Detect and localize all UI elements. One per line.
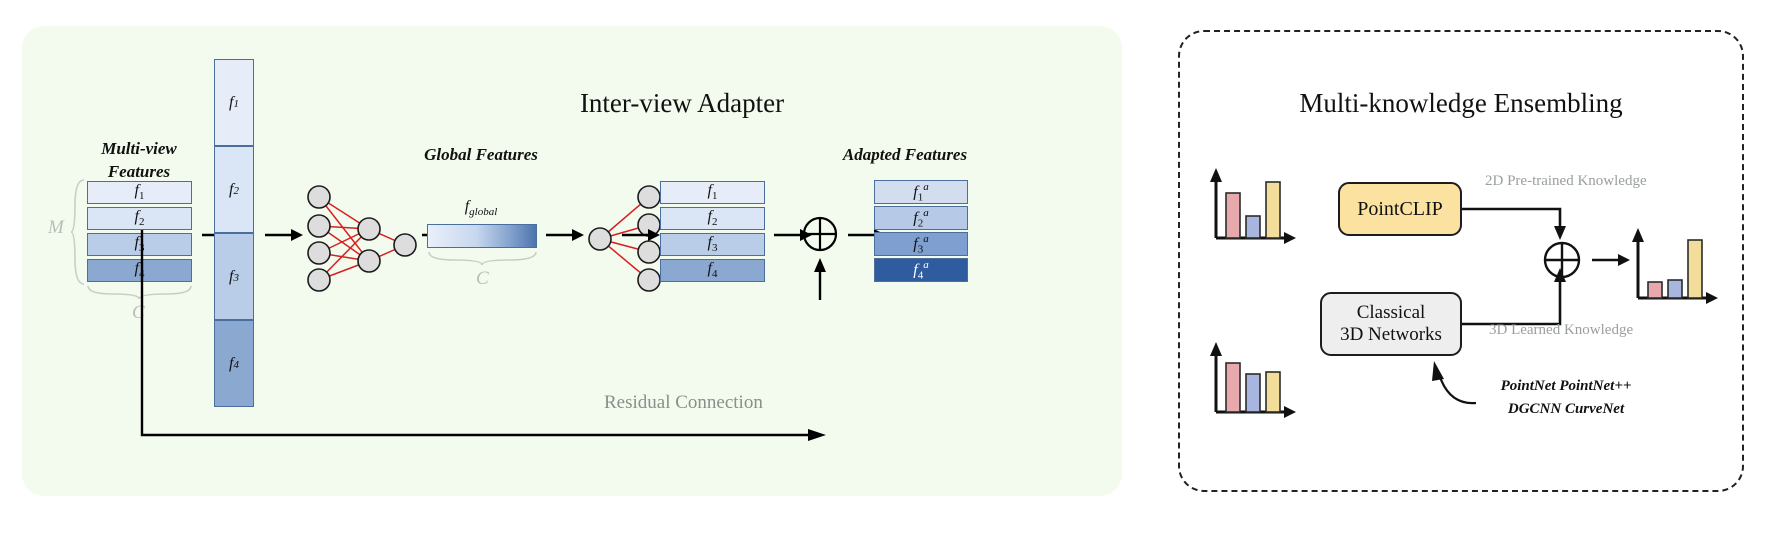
- classical-label-line1: Classical: [1340, 302, 1442, 324]
- output-bar-chart: [1626, 228, 1718, 304]
- bar: [1246, 216, 1260, 238]
- pointclip-label: PointCLIP: [1357, 198, 1443, 221]
- input-bottom-bar-chart: [1204, 342, 1296, 418]
- left-panel-title: Inter-view Adapter: [580, 88, 784, 119]
- concat-cell: f1: [214, 59, 254, 146]
- bar: [1266, 182, 1280, 238]
- multiview-feature-bar: f1: [87, 181, 192, 204]
- networks-callout-arrow: [1418, 357, 1482, 407]
- adapted-feature-bar: f1a: [874, 180, 968, 204]
- feature-symbol: f1: [135, 182, 145, 202]
- bar: [1668, 280, 1682, 298]
- bar: [1266, 372, 1280, 412]
- bar: [1246, 374, 1260, 412]
- residual-arrow-into-sum: [812, 258, 828, 300]
- bar: [1648, 282, 1662, 298]
- feature-symbol: f2: [135, 208, 145, 228]
- multiview-feature-bar: f2: [87, 207, 192, 230]
- feature-symbol: f1: [229, 94, 239, 112]
- ensemble-sum-icon: [1538, 236, 1586, 284]
- classical-label-line2: 3D Networks: [1340, 324, 1442, 346]
- feature-symbol: f2a: [913, 207, 928, 230]
- global-features-label: Global Features: [424, 144, 538, 167]
- output-feature-bar: f1: [660, 181, 765, 204]
- knowledge-3d-label: 3D Learned Knowledge: [1489, 322, 1633, 339]
- residual-connection-label: Residual Connection: [604, 392, 763, 414]
- adapted-features-label: Adapted Features: [843, 144, 967, 167]
- feature-symbol: f3a: [913, 233, 928, 256]
- multiview-features-label: Multi-view Features: [101, 138, 177, 184]
- dim-m-brace: [70, 178, 86, 286]
- arrow-sum-to-output-chart: [1592, 253, 1630, 267]
- adapted-feature-bar: f3a: [874, 232, 968, 256]
- dim-m-label: M: [48, 217, 64, 239]
- feature-symbol: f4a: [913, 259, 928, 282]
- feature-symbol: f2: [708, 208, 718, 228]
- adapted-feature-bar: f4a: [874, 258, 968, 282]
- networks-list-line2: DGCNN CurveNet: [1501, 398, 1632, 421]
- feature-symbol: f1a: [913, 181, 928, 204]
- bar: [1226, 193, 1240, 238]
- concat-cell: f2: [214, 146, 254, 233]
- knowledge-2d-label: 2D Pre-trained Knowledge: [1485, 173, 1647, 190]
- adapted-feature-bar: f2a: [874, 206, 968, 230]
- multiview-features-label-line1: Multi-view: [101, 138, 177, 161]
- output-feature-bar: f2: [660, 207, 765, 230]
- f-global-label: fglobal: [465, 198, 498, 218]
- networks-list: PointNet PointNet++ DGCNN CurveNet: [1501, 375, 1632, 420]
- bar: [1688, 240, 1702, 298]
- networks-list-line1: PointNet PointNet++: [1501, 375, 1632, 398]
- bar: [1226, 363, 1240, 412]
- inter-view-adapter-panel: Inter-view Adapter Multi-view Features f…: [22, 26, 1122, 496]
- classical-3d-networks-box[interactable]: Classical 3D Networks: [1320, 292, 1462, 356]
- input-top-bar-chart: [1204, 168, 1296, 244]
- feature-symbol: f1: [708, 182, 718, 202]
- pointclip-box[interactable]: PointCLIP: [1338, 182, 1462, 236]
- right-panel-title: Multi-knowledge Ensembling: [1299, 88, 1622, 119]
- feature-symbol: f2: [229, 181, 239, 199]
